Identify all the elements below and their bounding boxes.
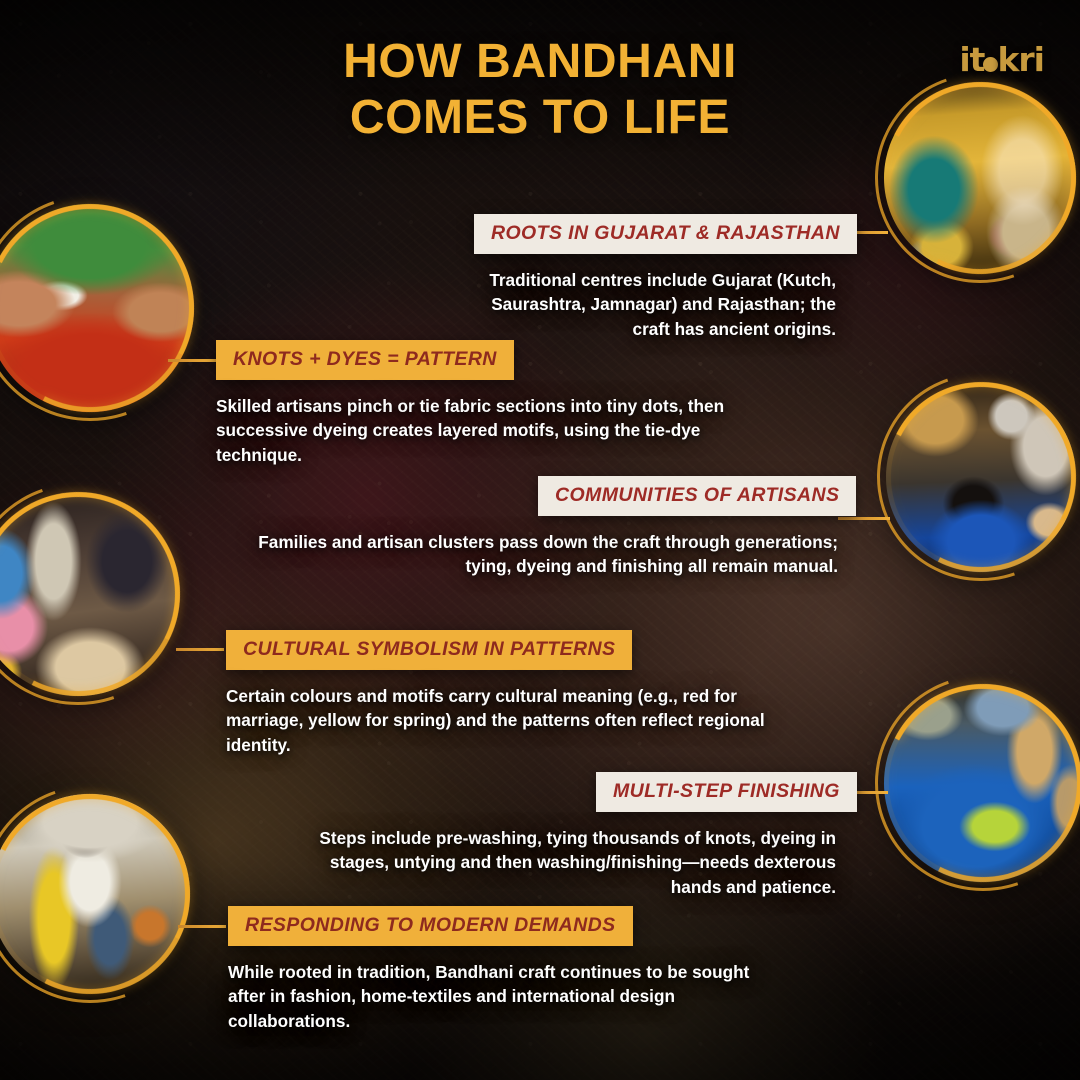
section-label-cultural-symbolism-in-patterns: CULTURAL SYMBOLISM IN PATTERNS: [226, 630, 632, 670]
photo-hands-tying-red-fabric: [0, 204, 194, 412]
section-body-multi-step-finishing: Steps include pre-washing, tying thousan…: [290, 826, 836, 899]
section-label-knots-dyes-pattern: KNOTS + DYES = PATTERN: [216, 340, 514, 380]
brand-logo-text-middle: k: [997, 40, 1018, 79]
photo-lifting-yellow-yarn: [0, 794, 190, 994]
photo-artisan-cluster: [0, 492, 180, 696]
photo-indigo-vat: [884, 684, 1080, 882]
photo-artisan-cluster-image: [0, 492, 180, 696]
brand-logo-text-before: it: [959, 40, 984, 79]
section-body-roots-in-gujarat-rajasthan: Traditional centres include Gujarat (Kut…: [474, 268, 836, 341]
section-label-communities-of-artisans: COMMUNITIES OF ARTISANS: [538, 476, 856, 516]
page-title-line-2: COMES TO LIFE: [0, 90, 1080, 146]
page-title: HOW BANDHANI COMES TO LIFE: [0, 34, 1080, 145]
connector-line-2: [168, 359, 216, 362]
section-body-knots-dyes-pattern: Skilled artisans pinch or tie fabric sec…: [216, 394, 756, 467]
section-label-responding-to-modern-demands: RESPONDING TO MODERN DEMANDS: [228, 906, 633, 946]
section-communities-of-artisans: COMMUNITIES OF ARTISANS Families and art…: [538, 476, 838, 579]
photo-indigo-vat-image: [884, 684, 1080, 882]
photo-lifting-yellow-yarn-image: [0, 794, 190, 994]
photo-dyer-blue-tub-image: [886, 382, 1076, 572]
section-body-responding-to-modern-demands: While rooted in tradition, Bandhani craf…: [228, 960, 788, 1033]
page-title-line-1: HOW BANDHANI: [0, 34, 1080, 90]
section-knots-dyes-pattern: KNOTS + DYES = PATTERN Skilled artisans …: [216, 340, 756, 467]
connector-line-4: [176, 648, 224, 651]
connector-line-6: [178, 925, 226, 928]
section-cultural-symbolism-in-patterns: CULTURAL SYMBOLISM IN PATTERNS Certain c…: [226, 630, 786, 757]
section-label-roots-in-gujarat-rajasthan: ROOTS IN GUJARAT & RAJASTHAN: [474, 214, 857, 254]
connector-line-3: [838, 517, 890, 520]
section-multi-step-finishing: MULTI-STEP FINISHING Steps include pre-w…: [596, 772, 836, 899]
brand-logo-text-after: ri: [1018, 40, 1044, 79]
brand-logo: itkri: [959, 40, 1044, 79]
photo-hands-tying-red-fabric-image: [0, 204, 194, 412]
section-roots-in-gujarat-rajasthan: ROOTS IN GUJARAT & RAJASTHAN Traditional…: [474, 214, 836, 341]
section-body-cultural-symbolism-in-patterns: Certain colours and motifs carry cultura…: [226, 684, 786, 757]
photo-dyer-blue-tub: [886, 382, 1076, 572]
infographic-canvas: itkri HOW BANDHANI COMES TO LIFE ROOTS I…: [0, 0, 1080, 1080]
section-responding-to-modern-demands: RESPONDING TO MODERN DEMANDS While roote…: [228, 906, 788, 1033]
section-body-communities-of-artisans: Families and artisan clusters pass down …: [228, 530, 838, 579]
section-label-multi-step-finishing: MULTI-STEP FINISHING: [596, 772, 857, 812]
